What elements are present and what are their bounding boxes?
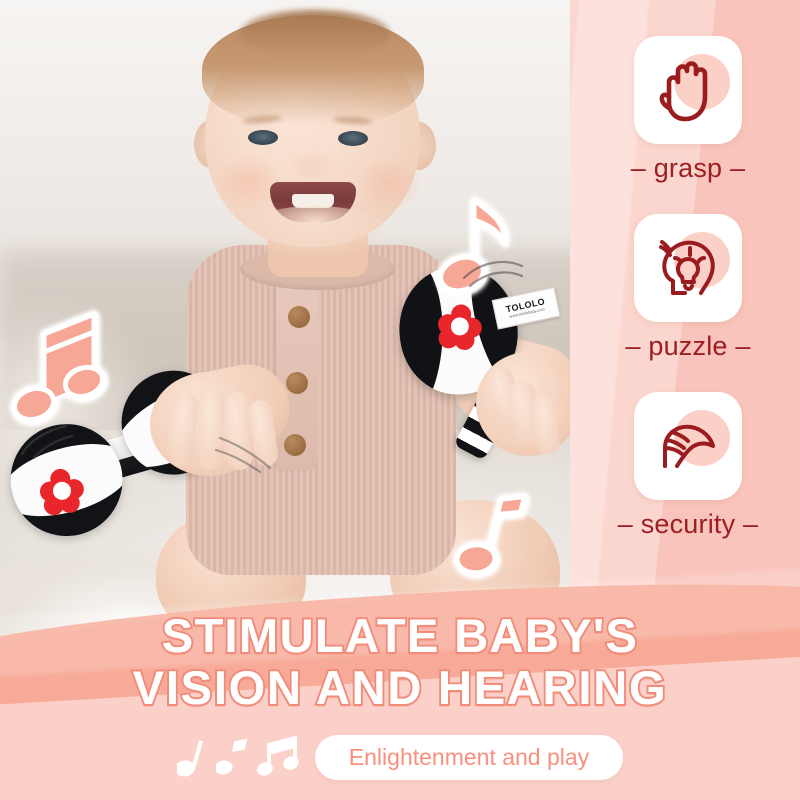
feature-label-grasp: – grasp –: [608, 153, 768, 184]
promo-banner: TOLOLO www.tololobaby.com: [0, 0, 800, 800]
motion-lines-decor: [14, 420, 74, 460]
feature-item-puzzle[interactable]: – puzzle –: [608, 214, 768, 362]
feature-card-grasp[interactable]: [634, 36, 742, 144]
subtitle-row: Enlightenment and play: [0, 728, 800, 786]
dash-left: –: [618, 509, 633, 539]
bottom-banner: Stimulate Baby's Vision and Hearing: [0, 560, 800, 800]
baby-eye-left: [248, 130, 278, 145]
baby-chin: [240, 206, 390, 258]
feature-label-puzzle: – puzzle –: [608, 331, 768, 362]
romper-button: [286, 372, 308, 394]
maraca-flower-red: [436, 302, 484, 350]
feature-card-puzzle[interactable]: [634, 214, 742, 322]
feather-security-icon: [634, 392, 742, 500]
dash-right: –: [743, 509, 758, 539]
baby-nose: [290, 150, 334, 178]
romper-button: [284, 434, 306, 456]
dash-right: –: [735, 331, 750, 361]
headline-line-2: Vision and Hearing: [0, 662, 800, 714]
bottom-music-notes: [177, 735, 301, 779]
rattle-flower-red: [37, 466, 87, 516]
romper-button: [288, 306, 310, 328]
hand-grasp-icon: [634, 36, 742, 144]
feature-label-text: grasp: [654, 153, 723, 183]
motion-lines-decor: [460, 252, 530, 292]
dash-left: –: [625, 331, 640, 361]
feature-item-grasp[interactable]: – grasp –: [608, 36, 768, 184]
motion-lines-decor: [214, 430, 278, 474]
feature-label-text: security: [641, 509, 736, 539]
feature-label-security: – security –: [608, 509, 768, 540]
subtitle-pill: Enlightenment and play: [315, 735, 623, 780]
head-lightbulb-puzzle-icon: [634, 214, 742, 322]
feature-card-security[interactable]: [634, 392, 742, 500]
feature-list: – grasp –: [570, 0, 800, 590]
dash-right: –: [730, 153, 745, 183]
beamed-note-icon: [257, 735, 301, 779]
headline-line-1: Stimulate Baby's: [0, 610, 800, 662]
feature-label-text: puzzle: [648, 331, 727, 361]
baby-cheek-right: [356, 157, 422, 211]
baby-eye-right: [338, 131, 368, 146]
dash-left: –: [631, 153, 646, 183]
eighth-note-icon: [216, 735, 248, 779]
feature-item-security[interactable]: – security –: [608, 392, 768, 540]
baby-hair-wisp: [240, 10, 390, 56]
headline: Stimulate Baby's Vision and Hearing: [0, 610, 800, 714]
quarter-note-icon: [177, 737, 207, 779]
beamed-note-icon: [10, 306, 106, 426]
